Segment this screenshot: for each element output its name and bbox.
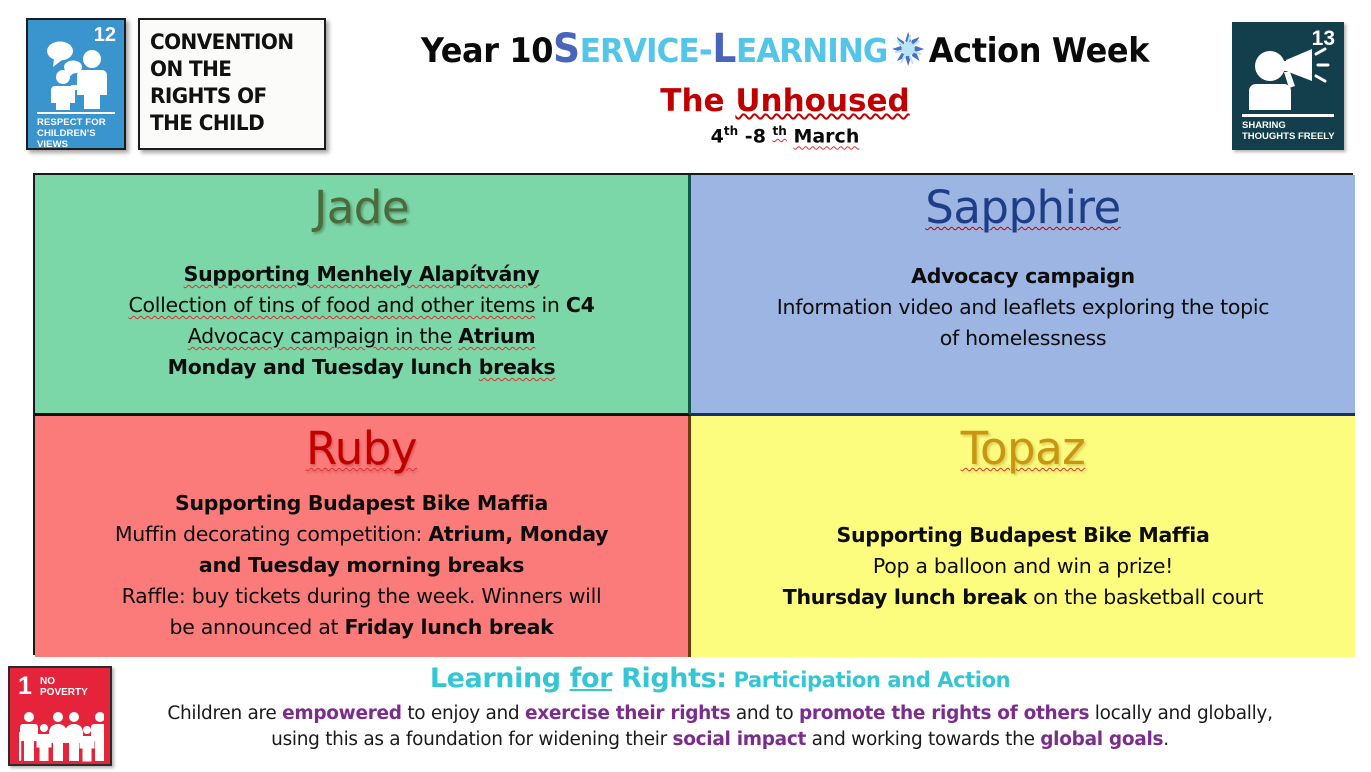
grid-cell-ruby: Ruby Supporting Budapest Bike Maffia Muf… xyxy=(35,416,691,657)
starburst-hands-icon xyxy=(889,29,927,78)
page-subtitle: The Unhoused xyxy=(340,83,1230,119)
house-heading-ruby: Ruby xyxy=(47,422,676,476)
title-service-rest: ERVICE xyxy=(580,31,699,70)
footer-para-t2: to enjoy and xyxy=(402,703,525,724)
crc-line3: RIGHTS OF xyxy=(150,83,303,110)
sdg-card-12: 12 RESPECT FOR CHILDREN'S VIEWS xyxy=(26,18,126,150)
jade-line-4: Monday and Tuesday lunch breaks xyxy=(47,352,676,383)
footer-title-part3: Participation and Action xyxy=(727,668,1010,692)
subtitle-plain: The xyxy=(660,83,735,119)
sapphire-line-2: Information video and leaflets exploring… xyxy=(703,292,1343,323)
crc-text: CONVENTION ON THE RIGHTS OF THE CHILD xyxy=(150,29,303,137)
megaphone-person-icon xyxy=(1246,44,1330,110)
ruby-line-1: Supporting Budapest Bike Maffia xyxy=(47,488,676,519)
date-day-to: 8 xyxy=(753,125,766,147)
sdg-12-caption-line1: RESPECT FOR xyxy=(37,117,118,128)
family-group-icon xyxy=(18,710,104,762)
title-dash: - xyxy=(699,30,713,71)
date-day-from: 4 xyxy=(711,125,724,147)
subtitle-misspelled: Unhoused xyxy=(735,83,909,119)
date-sup-to: th xyxy=(773,124,787,138)
jade-line-2: Collection of tins of food and other ite… xyxy=(47,290,676,321)
sapphire-line-1: Advocacy campaign xyxy=(703,261,1343,292)
jade-line-3: Advocacy campaign in the Atrium xyxy=(47,321,676,352)
grid-cell-topaz: Topaz Supporting Budapest Bike Maffia Po… xyxy=(691,416,1355,657)
page-title: Year 10SERVICE-LEARNING xyxy=(367,26,1204,78)
footer-para-b5: global goals xyxy=(1040,729,1163,750)
poster-header: 12 RESPECT FOR CHILDREN'S VIEWS CONVENTI… xyxy=(0,0,1371,173)
footer-para-t1: Children are xyxy=(167,703,282,724)
sdg-card-1: 1 NO POVERTY xyxy=(8,666,112,766)
sdg-card-13: 13 SHARING THOUGHTS FREELY xyxy=(1232,22,1344,150)
crc-line1: CONVENTION xyxy=(150,29,303,56)
sdg-1-number: 1 xyxy=(18,674,32,699)
sdg-13-divider xyxy=(1242,114,1334,117)
ruby-line-4: Raffle: buy tickets during the week. Win… xyxy=(47,581,676,612)
house-heading-jade: Jade xyxy=(47,181,676,235)
house-heading-sapphire: Sapphire xyxy=(703,181,1343,235)
sdg-13-caption: SHARING THOUGHTS FREELY xyxy=(1242,120,1338,142)
ruby-line-3: and Tuesday morning breaks xyxy=(47,550,676,581)
sdg-1-caption-line1: NO xyxy=(40,676,88,687)
sdg-1-caption-line2: POVERTY xyxy=(40,687,88,698)
topaz-line-1: Supporting Budapest Bike Maffia xyxy=(703,520,1343,551)
house-body-topaz: Supporting Budapest Bike Maffia Pop a ba… xyxy=(703,520,1343,613)
footer-para-b2: exercise their rights xyxy=(525,703,730,724)
grid-cell-sapphire: Sapphire Advocacy campaign Information v… xyxy=(691,175,1355,416)
topaz-line-2: Pop a balloon and win a prize! xyxy=(703,551,1343,582)
footer-paragraph: Children are empowered to enjoy and exer… xyxy=(125,701,1315,753)
footer-title-underlined: for xyxy=(570,663,612,694)
title-learning-cap: L xyxy=(712,26,736,72)
title-suffix: Action Week xyxy=(929,31,1149,71)
grid-cell-jade: Jade Supporting Menhely Alapítvány Colle… xyxy=(35,175,691,416)
house-activities-grid: Jade Supporting Menhely Alapítvány Colle… xyxy=(33,173,1353,655)
footer-title-part2: Rights: xyxy=(612,663,727,694)
title-learning-rest: EARNING xyxy=(736,31,887,70)
event-date: 4th -8 th March xyxy=(340,124,1230,147)
footer-title-part1: Learning xyxy=(430,663,570,694)
footer-para-t6: . xyxy=(1163,729,1169,750)
footer-title: Learning for Rights: Participation and A… xyxy=(125,663,1315,694)
house-body-sapphire: Advocacy campaign Information video and … xyxy=(703,261,1343,354)
title-service-cap: S xyxy=(553,26,580,72)
jade-line-1: Supporting Menhely Alapítvány xyxy=(47,259,676,290)
footer-para-b4: social impact xyxy=(673,729,807,750)
house-heading-topaz: Topaz xyxy=(703,422,1343,476)
speech-bubbles-adult-child-icon xyxy=(40,40,114,110)
crc-line4: THE CHILD xyxy=(150,110,303,137)
poster-footer: 1 NO POVERTY xyxy=(0,655,1371,772)
house-body-jade: Supporting Menhely Alapítvány Collection… xyxy=(47,259,676,383)
footer-para-t5: and working towards the xyxy=(806,729,1040,750)
sapphire-line-3: of homelessness xyxy=(703,323,1343,354)
footer-para-b1: empowered xyxy=(282,703,402,724)
date-month: March xyxy=(793,125,859,147)
sdg-13-caption-line1: SHARING xyxy=(1242,120,1338,131)
title-prefix: Year 10 xyxy=(421,31,553,71)
sdg-12-caption-line2: CHILDREN'S VIEWS xyxy=(37,128,118,150)
convention-rights-child-card: CONVENTION ON THE RIGHTS OF THE CHILD xyxy=(138,18,326,150)
sdg-1-caption: NO POVERTY xyxy=(40,676,88,698)
footer-para-b3: promote the rights of others xyxy=(799,703,1089,724)
footer-para-t3: and to xyxy=(730,703,799,724)
date-sup-from: th xyxy=(724,124,738,138)
topaz-line-3: Thursday lunch break on the basketball c… xyxy=(703,582,1343,613)
house-body-ruby: Supporting Budapest Bike Maffia Muffin d… xyxy=(47,488,676,643)
sdg-12-caption: RESPECT FOR CHILDREN'S VIEWS xyxy=(37,117,118,150)
sdg-12-divider xyxy=(37,112,115,114)
ruby-line-2: Muffin decorating competition: Atrium, M… xyxy=(47,519,676,550)
ruby-line-5: be announced at Friday lunch break xyxy=(47,612,676,643)
crc-line2: ON THE xyxy=(150,56,303,83)
sdg-13-caption-line2: THOUGHTS FREELY xyxy=(1242,131,1338,142)
title-block: Year 10SERVICE-LEARNING xyxy=(340,0,1230,147)
date-separator: - xyxy=(745,125,753,147)
footer-text-block: Learning for Rights: Participation and A… xyxy=(125,663,1315,753)
